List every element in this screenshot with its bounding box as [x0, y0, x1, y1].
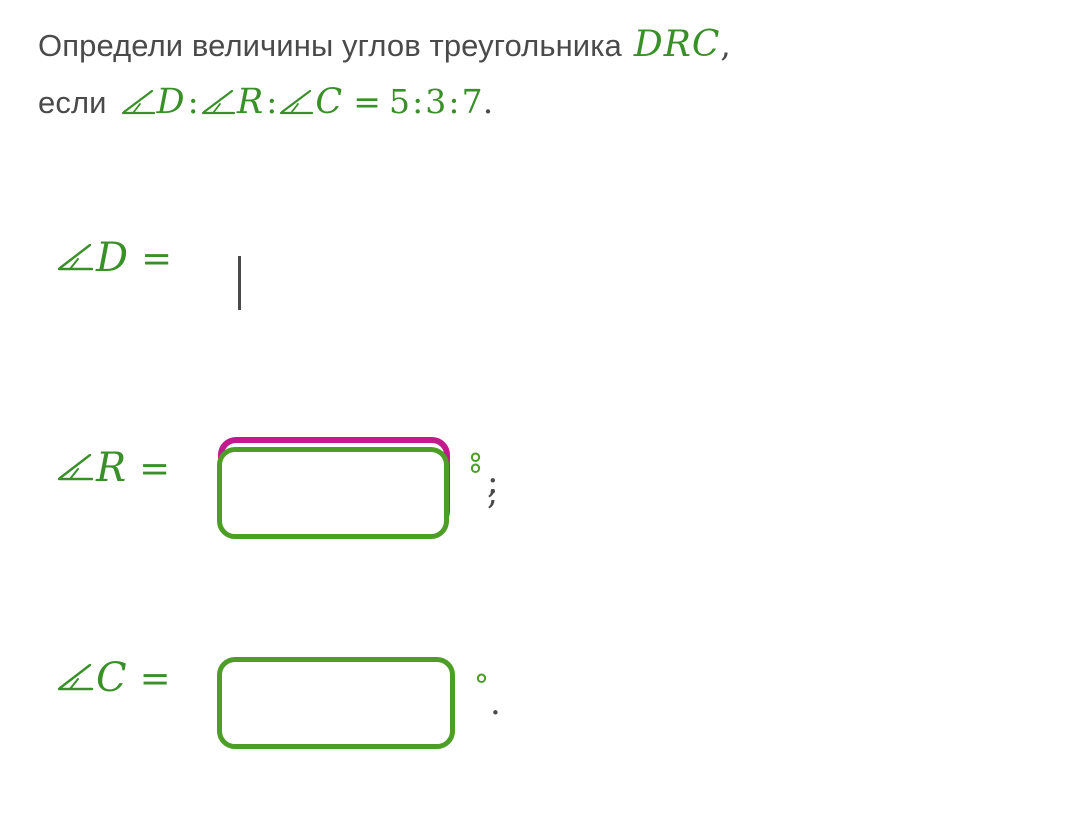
answer-row-d: D = ° ;	[0, 200, 1072, 410]
statement-equals: =	[351, 82, 383, 121]
degree-symbol-r: °	[468, 462, 483, 492]
angle-sign-icon	[121, 90, 155, 116]
text-caret	[238, 256, 241, 310]
answer-variable-d: D	[96, 235, 128, 281]
answer-equals-c: =	[140, 657, 171, 700]
statement-colon-3: :	[410, 82, 425, 121]
statement-colon-2: :	[264, 82, 279, 121]
angle-sign-icon	[279, 90, 313, 116]
statement-line-1: Определи величины углов треугольникаDRC,	[38, 16, 1048, 73]
statement-colon-4: :	[446, 82, 461, 121]
angle-sign-icon	[201, 90, 235, 116]
answer-input-c[interactable]	[217, 657, 455, 749]
answer-input-r[interactable]	[217, 447, 449, 539]
statement-text-prefix: Определи величины углов треугольника	[38, 28, 622, 63]
answer-label-c: C =	[57, 648, 171, 708]
statement-line-2: если D: R: C=5:3:7.	[38, 73, 1048, 130]
angle-sign-icon	[57, 664, 93, 692]
angle-sign-icon	[57, 244, 93, 272]
answer-variable-c: C	[96, 655, 127, 701]
statement-var-c: C	[315, 82, 343, 122]
answer-label-d: D =	[57, 228, 172, 288]
angle-sign-icon	[57, 454, 93, 482]
ratio-value-1: 5	[389, 82, 410, 121]
answer-row-r: R = ° ;	[0, 410, 1072, 620]
answer-label-r: R =	[57, 438, 170, 498]
answer-equals-r: =	[139, 447, 170, 490]
statement-var-d: D	[157, 82, 186, 122]
answer-row-c: C = ° .	[0, 620, 1072, 830]
statement-var-r: R	[237, 82, 264, 122]
ratio-value-3: 7	[462, 82, 483, 121]
statement-text-if: если	[38, 85, 107, 120]
problem-statement: Определи величины углов треугольникаDRC,…	[38, 16, 1048, 130]
row-punctuation-r: ;	[487, 476, 498, 510]
statement-colon-1: :	[186, 82, 201, 121]
statement-period: .	[483, 82, 494, 121]
degree-symbol-c: °	[474, 672, 489, 702]
row-punctuation-c: .	[490, 686, 501, 720]
statement-comma: ,	[720, 25, 731, 64]
triangle-name: DRC	[634, 24, 721, 65]
answers-section: D = ° ; R = ° ;	[0, 200, 1072, 830]
answer-equals-d: =	[141, 237, 172, 280]
ratio-value-2: 3	[425, 82, 446, 121]
answer-variable-r: R	[96, 445, 126, 491]
